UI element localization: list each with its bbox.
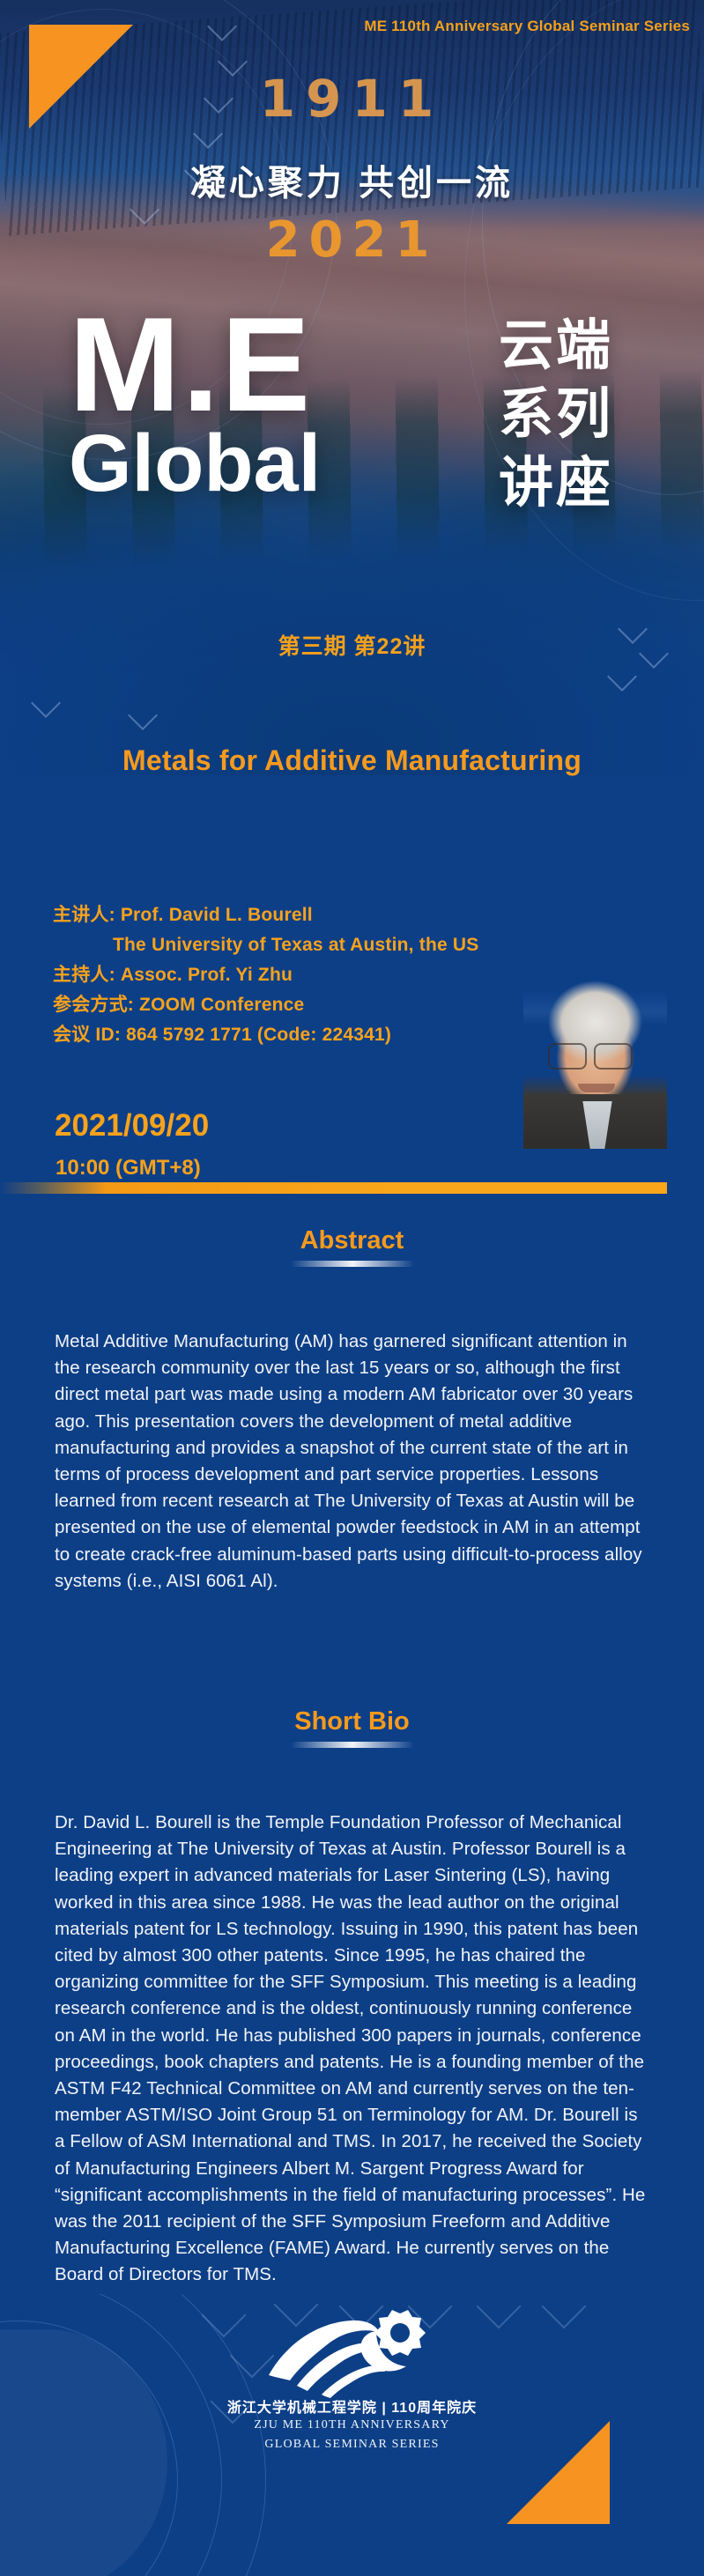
seminar-info: 主讲人: Prof. David L. Bourell The Universi… — [53, 900, 546, 1050]
mode-value: ZOOM Conference — [139, 995, 304, 1015]
meeting-row: 会议 ID: 864 5792 1771 (Code: 224341) — [53, 1020, 546, 1050]
year-1911: 1911 — [0, 69, 704, 129]
episode-label: 第三期 第22讲 — [0, 629, 704, 661]
talk-title: Metals for Additive Manufacturing — [0, 744, 704, 777]
speaker-portrait — [523, 973, 667, 1149]
speaker-row: 主讲人: Prof. David L. Bourell — [53, 900, 546, 930]
abstract-heading: Abstract — [0, 1226, 704, 1255]
host-row: 主持人: Assoc. Prof. Yi Zhu — [53, 960, 546, 990]
bio-text: Dr. David L. Bourell is the Temple Found… — [55, 1810, 648, 2289]
divider-bar — [0, 1182, 667, 1194]
portrait-mouth — [578, 1084, 615, 1092]
meeting-label: 会议 ID: — [53, 1025, 121, 1045]
corner-triangle-decoration — [507, 2421, 610, 2524]
seminar-time: 10:00 (GMT+8) — [56, 1156, 201, 1181]
bio-heading: Short Bio — [0, 1707, 704, 1736]
host-name: Assoc. Prof. Yi Zhu — [121, 965, 293, 985]
slogan-text: 凝心聚力 共创一流 — [0, 154, 704, 205]
mode-label: 参会方式: — [53, 995, 134, 1015]
year-2021: 2021 — [0, 211, 704, 269]
meeting-value: 864 5792 1771 (Code: 224341) — [126, 1025, 391, 1045]
series-label: ME 110th Anniversary Global Seminar Seri… — [364, 18, 690, 35]
mode-row: 参会方式: ZOOM Conference — [53, 990, 546, 1020]
glasses-right-lens — [594, 1043, 633, 1070]
speaker-label: 主讲人: — [53, 905, 115, 925]
logo-me-text: M.E — [69, 308, 492, 421]
me-global-chinese: 云端 系列 讲座 — [499, 312, 684, 518]
poster-footer: 1911-2021 浙江大学机械工程学院 | 110周年院庆 ZJU ME 11… — [0, 2294, 704, 2576]
speaker-name: Prof. David L. Bourell — [121, 905, 313, 925]
me-global-logo: M.E Global 云端 系列 讲座 — [0, 308, 704, 608]
zju-me-logo — [0, 2301, 704, 2404]
logo-global-text: Global — [69, 421, 492, 506]
abstract-heading-rule — [291, 1261, 414, 1267]
abstract-text: Metal Additive Manufacturing (AM) has ga… — [55, 1329, 648, 1595]
zju-me-bird-gear-icon — [260, 2301, 445, 2400]
footer-org-cn: 浙江大学机械工程学院 | 110周年院庆 — [0, 2395, 704, 2417]
bio-heading-block: Short Bio — [0, 1707, 704, 1748]
hero-banner: ME 110th Anniversary Global Seminar Seri… — [0, 0, 704, 775]
logo-cn-line-3: 讲座 — [499, 449, 684, 518]
seminar-poster: ME 110th Anniversary Global Seminar Seri… — [0, 0, 704, 2576]
logo-cn-line-1: 云端 — [499, 312, 684, 381]
abstract-heading-block: Abstract — [0, 1226, 704, 1267]
me-global-latin: M.E Global — [69, 308, 492, 506]
speaker-affiliation: The University of Texas at Austin, the U… — [53, 930, 546, 960]
glasses-left-lens — [548, 1043, 587, 1070]
bio-heading-rule — [291, 1742, 414, 1748]
seminar-date: 2021/09/20 — [55, 1108, 209, 1144]
logo-cn-line-2: 系列 — [499, 381, 684, 449]
host-label: 主持人: — [53, 965, 115, 985]
